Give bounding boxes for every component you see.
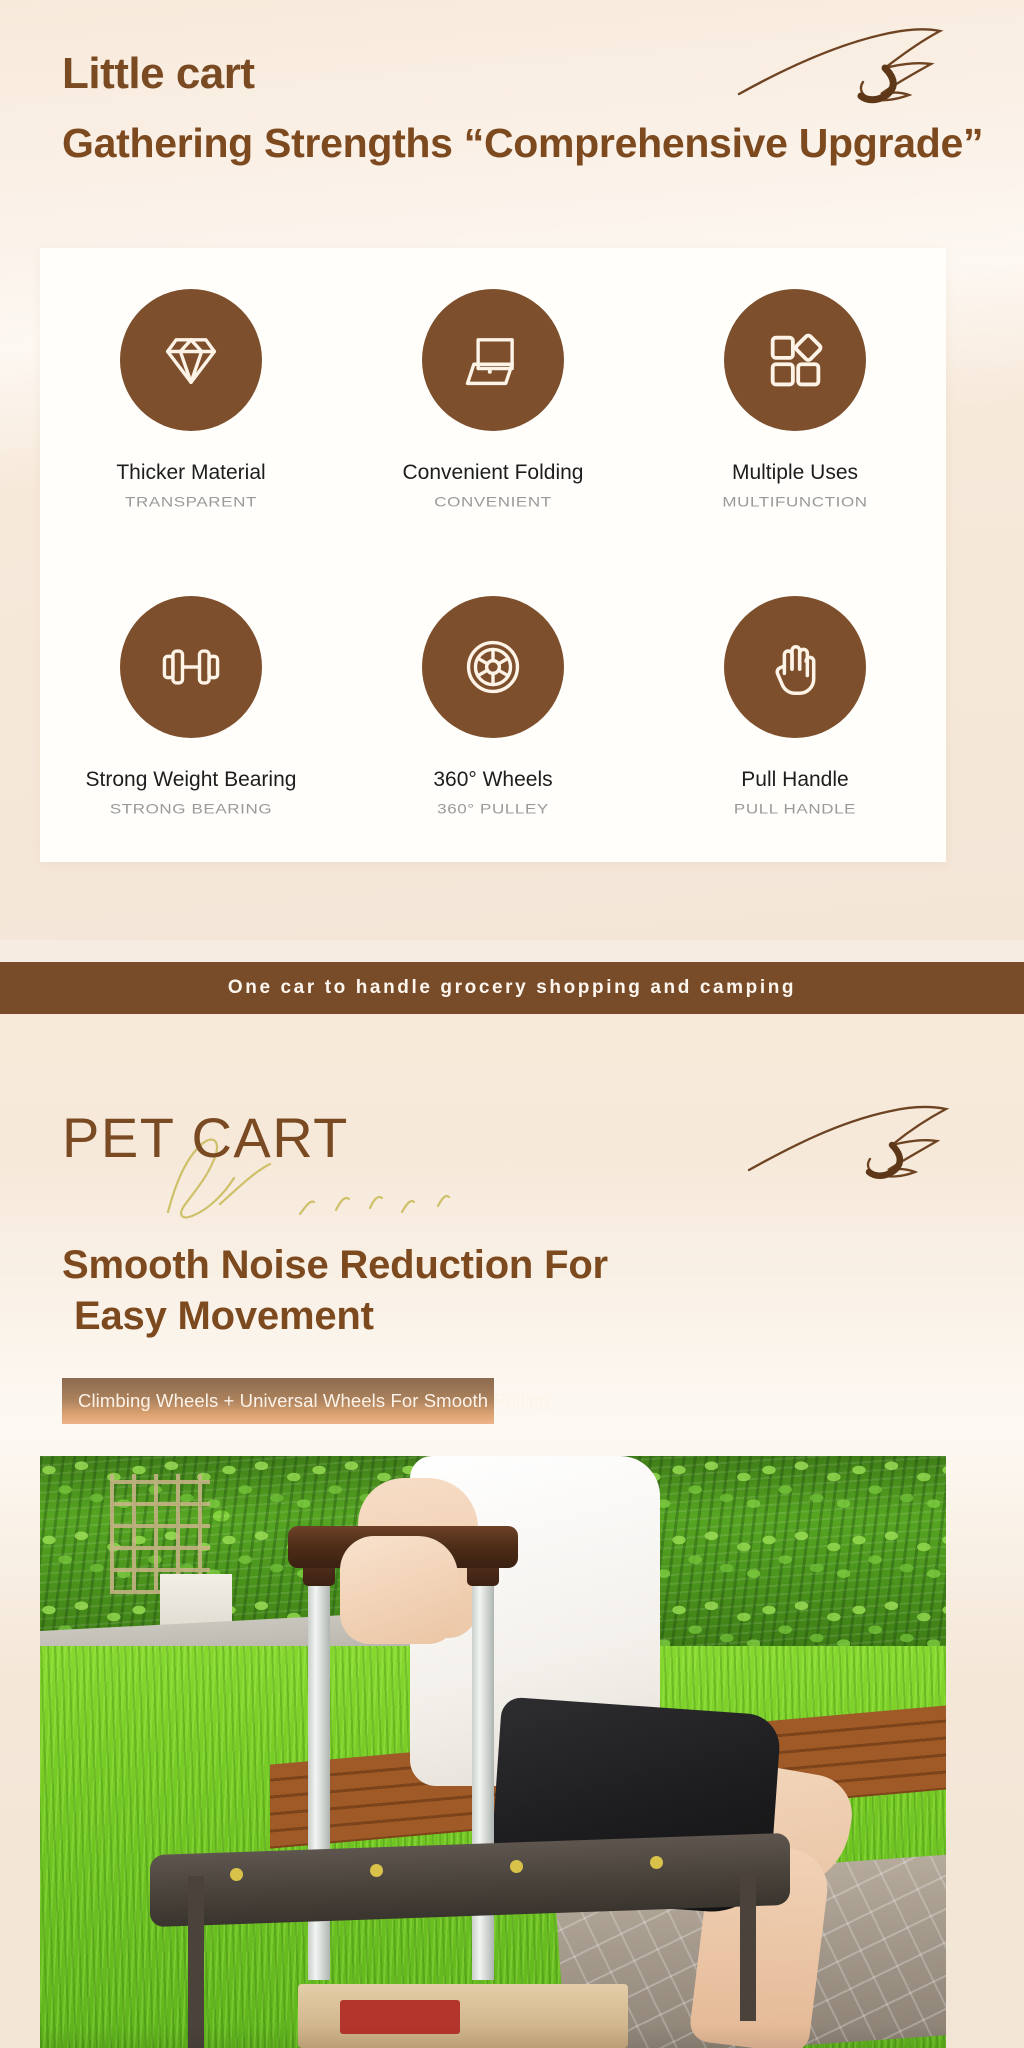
section2-title-line1: Smooth Noise Reduction For bbox=[62, 1243, 608, 1287]
section2-title-line2: Easy Movement bbox=[62, 1291, 962, 1342]
brand-title: PET CART bbox=[62, 1110, 349, 1166]
feature-title: 360° Wheels bbox=[433, 768, 552, 791]
photo-bench-bolt bbox=[510, 1860, 523, 1873]
feature-cell: Strong Weight Bearing STRONG BEARING bbox=[40, 555, 342, 862]
feature-subtitle: 360° PULLEY bbox=[437, 801, 549, 817]
photo-person-hand bbox=[340, 1536, 458, 1644]
feature-subtitle: PULL HANDLE bbox=[734, 801, 856, 817]
features-grid: Thicker Material TRANSPARENT Convenient … bbox=[40, 248, 946, 862]
feature-subtitle: TRANSPARENT bbox=[125, 494, 257, 510]
photo-bench-bolt bbox=[650, 1856, 663, 1869]
features-card: Thicker Material TRANSPARENT Convenient … bbox=[40, 248, 946, 862]
feature-cell: Multiple Uses MULTIFUNCTION bbox=[644, 248, 946, 555]
hand-icon bbox=[724, 596, 866, 738]
feature-pill-text: Climbing Wheels + Universal Wheels For S… bbox=[62, 1390, 550, 1412]
page-title: Gathering Strengths “Comprehensive Upgra… bbox=[62, 118, 1024, 168]
feature-subtitle: CONVENIENT bbox=[434, 494, 551, 510]
feature-cell: Pull Handle PULL HANDLE bbox=[644, 555, 946, 862]
photo-bench-bolt bbox=[370, 1864, 383, 1877]
product-detail-page: Little cart Gathering Strengths “Compreh… bbox=[0, 0, 1024, 2048]
feature-title: Multiple Uses bbox=[732, 461, 858, 484]
feature-subtitle: STRONG BEARING bbox=[110, 801, 272, 817]
promo-banner-text: One car to handle grocery shopping and c… bbox=[228, 977, 796, 999]
feature-title: Pull Handle bbox=[741, 768, 848, 791]
dumbbell-icon bbox=[120, 596, 262, 738]
feature-title: Strong Weight Bearing bbox=[86, 768, 297, 791]
grid-shapes-icon bbox=[724, 289, 866, 431]
feature-pill: Climbing Wheels + Universal Wheels For S… bbox=[62, 1378, 494, 1424]
wheel-icon bbox=[422, 596, 564, 738]
photo-bench-leg bbox=[188, 1876, 204, 2048]
feature-subtitle: MULTIFUNCTION bbox=[722, 494, 867, 510]
diamond-icon bbox=[120, 289, 262, 431]
section2-title: Smooth Noise Reduction For Easy Movement bbox=[62, 1240, 962, 1342]
feature-cell: 360° Wheels 360° PULLEY bbox=[342, 555, 644, 862]
photo-bench-leg bbox=[740, 1871, 756, 2021]
photo-bench-bolt bbox=[230, 1868, 243, 1881]
feature-title: Convenient Folding bbox=[403, 461, 584, 484]
brush-swoosh-icon bbox=[735, 22, 955, 112]
section-kicker: Little cart bbox=[62, 52, 255, 96]
feature-title: Thicker Material bbox=[116, 461, 265, 484]
folding-icon bbox=[422, 289, 564, 431]
features-section: Little cart Gathering Strengths “Compreh… bbox=[0, 0, 1024, 940]
photo-bottom-fade bbox=[40, 2024, 946, 2048]
product-lifestyle-photo bbox=[40, 1456, 946, 2048]
photo-handle-stem-right bbox=[472, 1560, 494, 1980]
feature-cell: Thicker Material TRANSPARENT bbox=[40, 248, 342, 555]
brush-swoosh-icon-2 bbox=[745, 1100, 960, 1188]
promo-banner: One car to handle grocery shopping and c… bbox=[0, 962, 1024, 1014]
feature-cell: Convenient Folding CONVENIENT bbox=[342, 248, 644, 555]
